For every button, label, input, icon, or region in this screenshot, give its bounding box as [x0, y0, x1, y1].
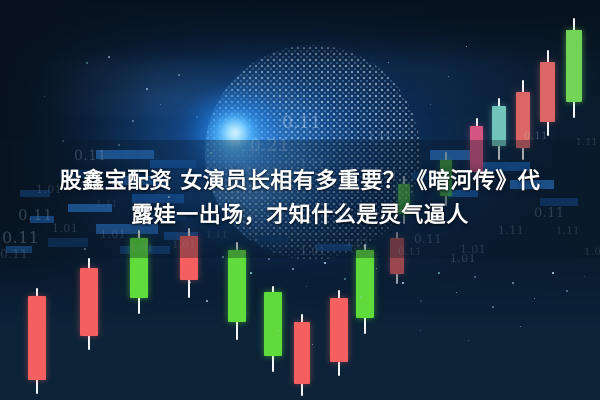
- price-number: 0.11: [282, 113, 321, 133]
- headline-block: 股鑫宝配资 女演员长相有多重要？《暗河传》代 露娃一出场，才知什么是灵气逼人: [0, 140, 600, 258]
- promo-thumbnail-image: 0.111.011.110.111.010.111.011.011.110.11…: [0, 0, 600, 400]
- headline-line-2: 露娃一出场，才知什么是灵气逼人: [131, 202, 469, 230]
- headline-line-1: 股鑫宝配资 女演员长相有多重要？《暗河传》代: [60, 168, 541, 196]
